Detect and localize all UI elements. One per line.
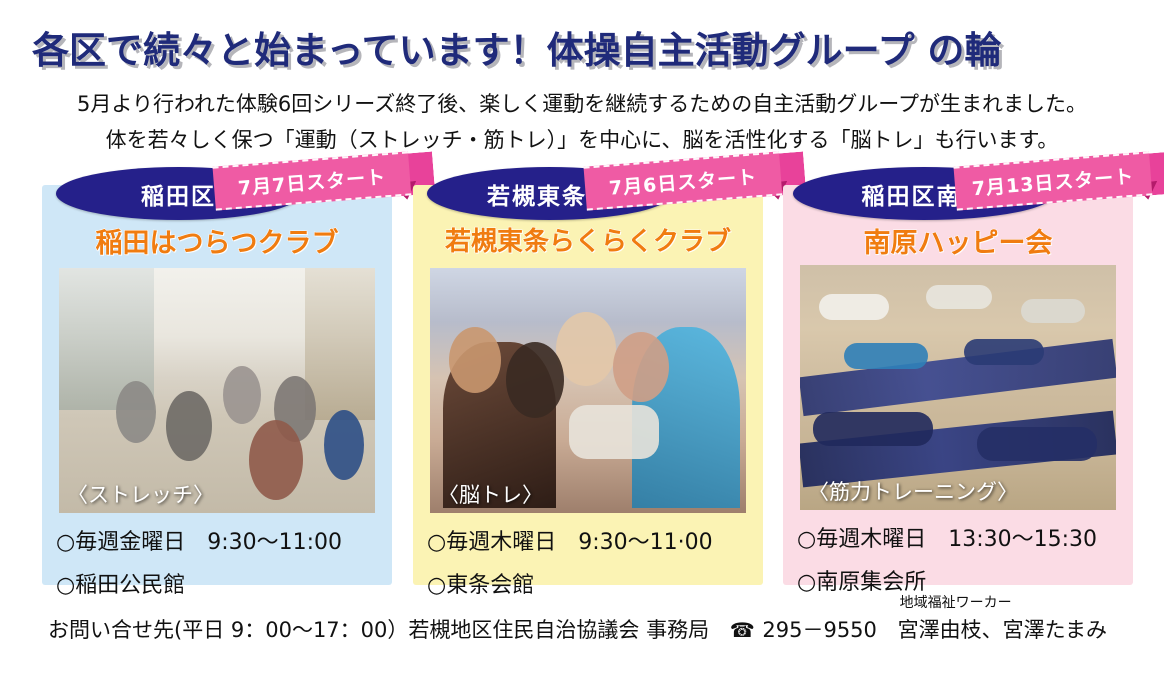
lead-text-line-2: 体を若々しく保つ「運動（ストレッチ・筋トレ）」を中心に、脳を活性化する「脳トレ」… — [0, 124, 1164, 154]
photo-figure — [819, 294, 889, 320]
venue-text: ○東条会館 — [427, 567, 753, 599]
photo-figure — [166, 391, 212, 461]
start-date-ribbon: 7月7日スタート — [212, 151, 411, 212]
photo-figure — [249, 420, 303, 500]
photo-caption: 〈筋力トレーニング〉 — [808, 476, 1018, 506]
activity-photo: 〈ストレッチ〉 — [59, 268, 375, 513]
schedule-text: ○毎週木曜日 9:30〜11·00 — [427, 524, 753, 556]
schedule-text: ○毎週木曜日 13:30〜15:30 — [797, 521, 1123, 553]
group-card-inada: 稲田区 7月7日スタート 稲田はつらつクラブ 〈ストレッチ〉 ○毎週金曜日 9:… — [42, 185, 392, 585]
worker-block: 地域福祉ワーカー 宮澤由枝、宮澤たまみ — [898, 614, 1107, 644]
flyer-page: 各区で続々と始まっています！体操自主活動グループ の輪 5月より行われた体験6回… — [0, 0, 1164, 681]
group-card-minamihara: 稲田区南原 7月13日スタート 南原ハッピー会 〈筋力トレーニング〉 ○毎週木曜… — [783, 185, 1133, 585]
photo-figure — [116, 381, 156, 443]
photo-figure — [506, 342, 564, 418]
club-name: 南原ハッピー会 — [783, 221, 1133, 260]
start-date-ribbon: 7月6日スタート — [583, 151, 782, 212]
start-date-ribbon: 7月13日スタート — [953, 151, 1152, 212]
club-name: 若槻東条らくらくクラブ — [413, 221, 763, 258]
start-date-label: 7月6日スタート — [583, 151, 782, 210]
footer-contact-bar: お問い合せ先(平日 9：00〜17：00）若槻地区住民自治協議会 事務局 ☎ 2… — [0, 614, 1164, 644]
photo-figure — [813, 412, 933, 446]
photo-table — [569, 405, 659, 459]
start-date-label: 7月7日スタート — [212, 151, 411, 210]
venue-text: ○稲田公民館 — [56, 567, 382, 599]
photo-figure — [926, 285, 992, 309]
start-date-label: 7月13日スタート — [953, 151, 1152, 210]
group-card-wakatsukitojo: 若槻東条区 7月6日スタート 若槻東条らくらくクラブ 〈脳トレ〉 ○毎週木曜日 … — [413, 185, 763, 585]
worker-role-label: 地域福祉ワーカー — [900, 592, 1012, 612]
photo-caption: 〈ストレッチ〉 — [67, 479, 214, 509]
photo-figure — [844, 343, 928, 369]
photo-caption: 〈脳トレ〉 — [438, 479, 543, 509]
photo-figure — [613, 332, 669, 402]
lead-text-line-1: 5月より行われた体験6回シリーズ終了後、楽しく運動を継続するための自主活動グルー… — [0, 88, 1164, 118]
photo-scene — [59, 268, 375, 513]
photo-figure — [977, 427, 1097, 461]
telephone-icon: ☎ — [730, 618, 755, 642]
activity-photo: 〈筋力トレーニング〉 — [800, 265, 1116, 510]
schedule-text: ○毎週金曜日 9:30〜11:00 — [56, 524, 382, 556]
page-title: 各区で続々と始まっています！体操自主活動グループ の輪 — [0, 20, 1164, 74]
photo-figure — [1021, 299, 1085, 323]
worker-names: 宮澤由枝、宮澤たまみ — [898, 618, 1107, 642]
activity-photo: 〈脳トレ〉 — [430, 268, 746, 513]
photo-figure — [449, 327, 501, 393]
telephone-number[interactable]: 295－9550 — [762, 618, 877, 642]
club-name: 稲田はつらつクラブ — [42, 221, 392, 260]
photo-figure — [964, 339, 1044, 365]
contact-text: お問い合せ先(平日 9：00〜17：00）若槻地区住民自治協議会 事務局 — [48, 618, 709, 642]
